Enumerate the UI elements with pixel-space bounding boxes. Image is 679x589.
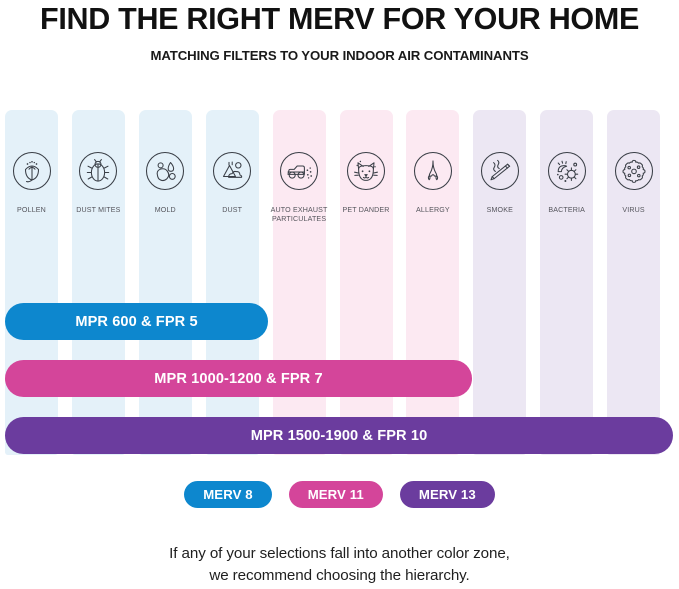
merv-infographic: FIND THE RIGHT MERV FOR YOUR HOME MATCHI… (0, 0, 679, 589)
contaminant-label: SMOKE (469, 206, 530, 215)
contaminant-column-auto-exhaust-particulates: AUTO EXHAUST PARTICULATES (273, 110, 326, 455)
merv-bar-blue-label: MPR 600 & FPR 5 (75, 314, 197, 330)
bacteria-icon (545, 149, 589, 193)
contaminant-columns: POLLENDUST MITESMOLDDUSTAUTO EXHAUST PAR… (5, 110, 674, 455)
contaminant-column-smoke: SMOKE (473, 110, 526, 455)
merv-bar-magenta-label: MPR 1000-1200 & FPR 7 (154, 371, 322, 387)
virus-icon (612, 149, 656, 193)
page-title: FIND THE RIGHT MERV FOR YOUR HOME (0, 2, 679, 37)
dust-mite-bug-icon (76, 149, 120, 193)
contaminant-column-dust: DUST (206, 110, 259, 455)
merv-bar-blue: MPR 600 & FPR 5 (5, 303, 268, 340)
contaminant-column-virus: VIRUS (607, 110, 660, 455)
merv-bar-purple: MPR 1500-1900 & FPR 10 (5, 417, 673, 454)
footer-note: If any of your selections fall into anot… (0, 543, 679, 586)
nose-icon (411, 149, 455, 193)
car-exhaust-icon (277, 149, 321, 193)
contaminant-label: AUTO EXHAUST PARTICULATES (269, 206, 330, 225)
contaminant-label: DUST (202, 206, 263, 215)
contaminant-label: DUST MITES (68, 206, 129, 215)
contaminant-label: MOLD (135, 206, 196, 215)
merv-bar-magenta: MPR 1000-1200 & FPR 7 (5, 360, 472, 397)
legend-pill-merv-8-label: MERV 8 (203, 487, 252, 502)
contaminant-label: VIRUS (603, 206, 664, 215)
cat-face-icon (344, 149, 388, 193)
merv-legend: MERV 8 MERV 11 MERV 13 (0, 481, 679, 508)
footer-line-2: we recommend choosing the hierarchy. (0, 565, 679, 587)
footer-line-1: If any of your selections fall into anot… (0, 543, 679, 565)
contaminant-column-pollen: POLLEN (5, 110, 58, 455)
legend-pill-merv-11: MERV 11 (289, 481, 383, 508)
contaminant-column-dust-mites: DUST MITES (72, 110, 125, 455)
contaminant-column-pet-dander: PET DANDER (340, 110, 393, 455)
contaminant-column-bacteria: BACTERIA (540, 110, 593, 455)
page-subtitle: MATCHING FILTERS TO YOUR INDOOR AIR CONT… (0, 48, 679, 63)
merv-bar-purple-label: MPR 1500-1900 & FPR 10 (251, 428, 428, 444)
contaminant-label: PET DANDER (336, 206, 397, 215)
cigarette-smoke-icon (478, 149, 522, 193)
dust-cloud-icon (210, 149, 254, 193)
contaminant-label: POLLEN (1, 206, 62, 215)
legend-pill-merv-11-label: MERV 11 (308, 487, 364, 502)
contaminant-label: ALLERGY (402, 206, 463, 215)
contaminant-label: BACTERIA (536, 206, 597, 215)
legend-pill-merv-13-label: MERV 13 (419, 487, 476, 502)
legend-pill-merv-13: MERV 13 (400, 481, 495, 508)
contaminant-column-mold: MOLD (139, 110, 192, 455)
pollen-flower-icon (10, 149, 54, 193)
mold-spores-icon (143, 149, 187, 193)
contaminant-column-allergy: ALLERGY (406, 110, 459, 455)
legend-pill-merv-8: MERV 8 (184, 481, 271, 508)
